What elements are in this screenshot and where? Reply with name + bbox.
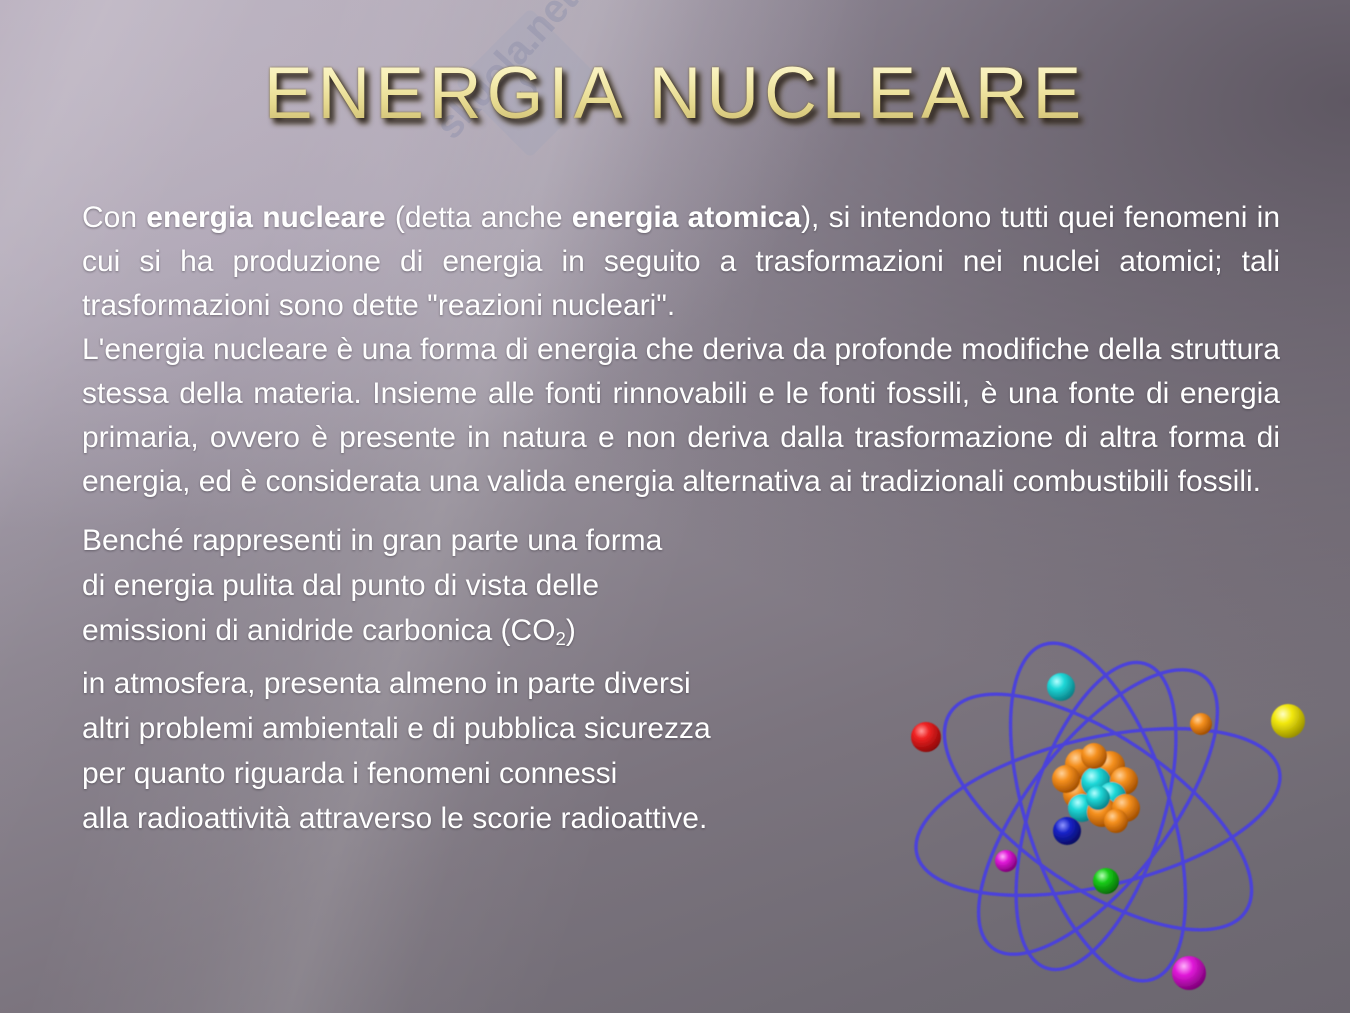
electron-green xyxy=(1093,868,1119,894)
paragraph-1: Con energia nucleare (detta anche energi… xyxy=(82,196,1280,328)
slide-title: ENERGIA NUCLEARE xyxy=(0,52,1350,135)
p3-line-7: alla radioattività attraverso le scorie … xyxy=(82,802,707,835)
electron-magenta xyxy=(1172,956,1206,990)
p3-line-2: di energia pulita dal punto di vista del… xyxy=(82,569,599,602)
co2-subscript: 2 xyxy=(556,628,566,649)
p1-mid: (detta anche xyxy=(386,201,572,234)
p1-bold-energia-atomica: energia atomica xyxy=(572,201,801,234)
slide-canvas: S skuola.net ENERGIA NUCLEARE Con energi… xyxy=(0,0,1350,1013)
paragraph-2: L'energia nucleare è una forma di energi… xyxy=(82,328,1280,504)
p3-line-5: altri problemi ambientali e di pubblica … xyxy=(82,712,711,745)
paragraph-3: Benché rappresenti in gran parte una for… xyxy=(82,518,1280,841)
p3-line-6: per quanto riguarda i fenomeni connessi xyxy=(82,757,617,790)
p1-lead: Con xyxy=(82,201,146,234)
p3-line-3b: ) xyxy=(566,614,576,647)
electron-magenta-small xyxy=(995,850,1017,872)
slide-body: Con energia nucleare (detta anche energi… xyxy=(82,196,1280,841)
p3-line-4: in atmosfera, presenta almeno in parte d… xyxy=(82,667,691,700)
p1-bold-energia-nucleare: energia nucleare xyxy=(146,201,385,234)
p3-line-3a: emissioni di anidride carbonica (CO xyxy=(82,614,556,647)
p3-line-1: Benché rappresenti in gran parte una for… xyxy=(82,524,662,557)
